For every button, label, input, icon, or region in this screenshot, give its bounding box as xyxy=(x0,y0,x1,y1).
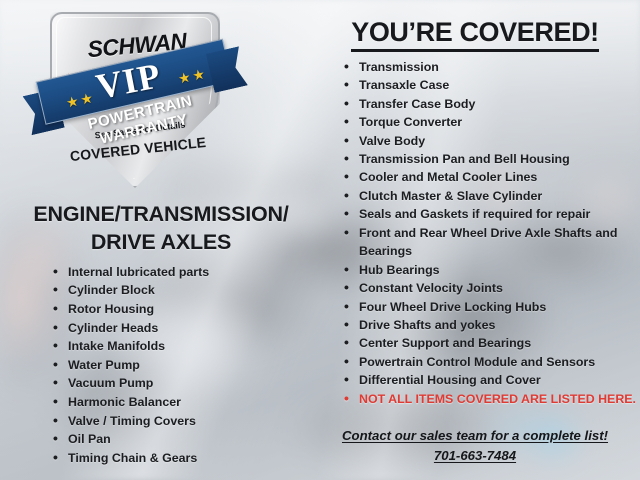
list-item: Hub Bearings xyxy=(359,261,638,279)
left-column-heading: ENGINE/TRANSMISSION/ DRIVE AXLES xyxy=(6,200,316,257)
list-item: Intake Manifolds xyxy=(68,337,316,356)
list-item: Transfer Case Body xyxy=(359,95,638,113)
left-heading-wrap: ENGINE/TRANSMISSION/ DRIVE AXLES xyxy=(6,200,316,257)
list-item: Constant Velocity Joints xyxy=(359,279,638,297)
warranty-poster: SCHWAN ★★ ★★ VIP POWERTRAIN WARRANTY See… xyxy=(0,0,640,480)
list-item: Cylinder Block xyxy=(68,281,316,300)
list-item: Cooler and Metal Cooler Lines xyxy=(359,168,638,186)
left-heading-line-1: ENGINE/TRANSMISSION/ xyxy=(6,200,316,228)
list-item: Transaxle Case xyxy=(359,76,638,94)
list-item: Timing Chain & Gears xyxy=(68,449,316,468)
engine-coverage-list: Internal lubricated partsCylinder BlockR… xyxy=(68,263,316,468)
list-item: Transmission xyxy=(359,58,638,76)
contact-cta: Contact our sales team for a complete li… xyxy=(312,428,638,465)
drivetrain-coverage-list: TransmissionTransaxle CaseTransfer Case … xyxy=(359,58,638,409)
list-item: Cylinder Heads xyxy=(68,319,316,338)
list-item: Four Wheel Drive Locking Hubs xyxy=(359,298,638,316)
list-item: Drive Shafts and yokes xyxy=(359,316,638,334)
list-item: Center Support and Bearings xyxy=(359,334,638,352)
coverage-disclaimer-item: NOT ALL ITEMS COVERED ARE LISTED HERE. xyxy=(359,390,638,408)
engine-transmission-column: ENGINE/TRANSMISSION/ DRIVE AXLES Interna… xyxy=(6,200,316,467)
list-item: Oil Pan xyxy=(68,430,316,449)
list-item: Water Pump xyxy=(68,356,316,375)
right-column-heading: YOU’RE COVERED! xyxy=(351,18,599,52)
list-item: Vacuum Pump xyxy=(68,374,316,393)
list-item: Powertrain Control Module and Sensors xyxy=(359,353,638,371)
list-item: Valve Body xyxy=(359,132,638,150)
youre-covered-column: YOU’RE COVERED! TransmissionTransaxle Ca… xyxy=(312,18,638,408)
list-item: Internal lubricated parts xyxy=(68,263,316,282)
list-item: Front and Rear Wheel Drive Axle Shafts a… xyxy=(359,224,638,261)
list-item: Torque Converter xyxy=(359,113,638,131)
list-item: Seals and Gaskets if required for repair xyxy=(359,205,638,223)
cta-message: Contact our sales team for a complete li… xyxy=(312,428,638,443)
list-item: Transmission Pan and Bell Housing xyxy=(359,150,638,168)
list-item: Rotor Housing xyxy=(68,300,316,319)
right-heading-wrap: YOU’RE COVERED! xyxy=(312,18,638,52)
list-item: Harmonic Balancer xyxy=(68,393,316,412)
vip-warranty-badge: SCHWAN ★★ ★★ VIP POWERTRAIN WARRANTY See… xyxy=(22,8,244,190)
list-item: Differential Housing and Cover xyxy=(359,371,638,389)
cta-phone-number[interactable]: 701-663-7484 xyxy=(434,448,516,463)
left-heading-line-2: DRIVE AXLES xyxy=(6,228,316,256)
list-item: Clutch Master & Slave Cylinder xyxy=(359,187,638,205)
list-item: Valve / Timing Covers xyxy=(68,412,316,431)
